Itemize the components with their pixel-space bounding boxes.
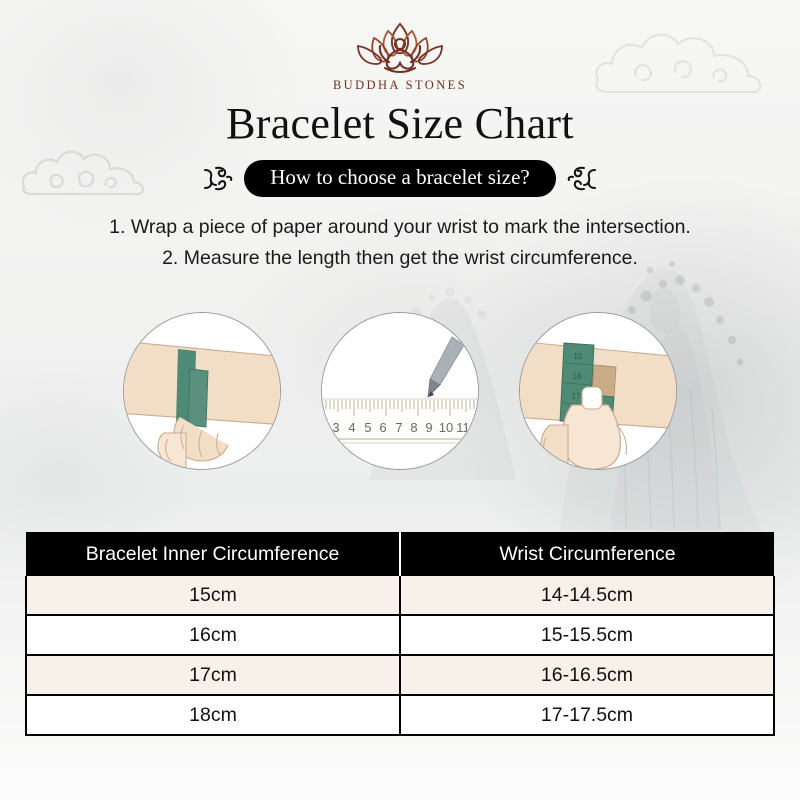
cloud-flourish-icon-left: [201, 162, 235, 196]
instruction-step-1: 1. Wrap a piece of paper around your wri…: [0, 212, 800, 243]
svg-text:11: 11: [456, 420, 470, 435]
svg-text:9: 9: [425, 420, 432, 435]
size-table: Bracelet Inner Circumference Wrist Circu…: [25, 532, 775, 736]
cloud-flourish-icon-right: [565, 162, 599, 196]
svg-text:6: 6: [379, 420, 386, 435]
table-row: 15cm 14-14.5cm: [26, 576, 774, 615]
illustration-read-tape-measure: 151617 2: [519, 312, 677, 470]
lotus-meditation-icon: [338, 18, 462, 76]
cell-wrist: 16-16.5cm: [400, 655, 774, 695]
brand-name: BUDDHA STONES: [0, 78, 800, 93]
svg-text:15: 15: [574, 352, 583, 361]
instruction-step-2: 2. Measure the length then get the wrist…: [0, 243, 800, 274]
cell-wrist: 14-14.5cm: [400, 576, 774, 615]
svg-text:17: 17: [572, 392, 581, 401]
table-row: 16cm 15-15.5cm: [26, 615, 774, 655]
brand-logo: BUDDHA STONES: [0, 18, 800, 93]
svg-text:7: 7: [395, 420, 402, 435]
cell-bracelet: 18cm: [26, 695, 400, 735]
page-title: Bracelet Size Chart: [0, 98, 800, 149]
illustration-row: 345 678 91011 12 151617: [0, 312, 800, 470]
svg-text:5: 5: [364, 420, 371, 435]
svg-text:8: 8: [410, 420, 417, 435]
illustration-measure-with-ruler: 345 678 91011 12: [321, 312, 479, 470]
table-header-row: Bracelet Inner Circumference Wrist Circu…: [26, 532, 774, 576]
svg-text:3: 3: [332, 420, 339, 435]
size-table-header: Bracelet Inner Circumference Wrist Circu…: [26, 532, 774, 576]
column-header-bracelet: Bracelet Inner Circumference: [26, 532, 400, 576]
cell-bracelet: 17cm: [26, 655, 400, 695]
measuring-tape-on-wrist-icon: 151617 2: [520, 313, 676, 469]
arm-with-paper-strip-icon: [124, 313, 280, 469]
how-to-banner: How to choose a bracelet size?: [0, 160, 800, 197]
size-table-body: 15cm 14-14.5cm 16cm 15-15.5cm 17cm 16-16…: [26, 576, 774, 735]
size-chart-page: BUDDHA STONES Bracelet Size Chart How to…: [0, 0, 800, 800]
instruction-list: 1. Wrap a piece of paper around your wri…: [0, 212, 800, 274]
cell-wrist: 15-15.5cm: [400, 615, 774, 655]
svg-text:16: 16: [573, 372, 582, 381]
svg-text:12: 12: [472, 420, 478, 435]
illustration-wrap-paper-around-wrist: [123, 312, 281, 470]
table-row: 18cm 17-17.5cm: [26, 695, 774, 735]
table-row: 17cm 16-16.5cm: [26, 655, 774, 695]
svg-text:10: 10: [439, 420, 453, 435]
cell-bracelet: 15cm: [26, 576, 400, 615]
cell-bracelet: 16cm: [26, 615, 400, 655]
cell-wrist: 17-17.5cm: [400, 695, 774, 735]
banner-label: How to choose a bracelet size?: [244, 160, 555, 197]
column-header-wrist: Wrist Circumference: [400, 532, 774, 576]
ruler-and-pencil-icon: 345 678 91011 12: [322, 313, 478, 469]
svg-text:4: 4: [348, 420, 355, 435]
